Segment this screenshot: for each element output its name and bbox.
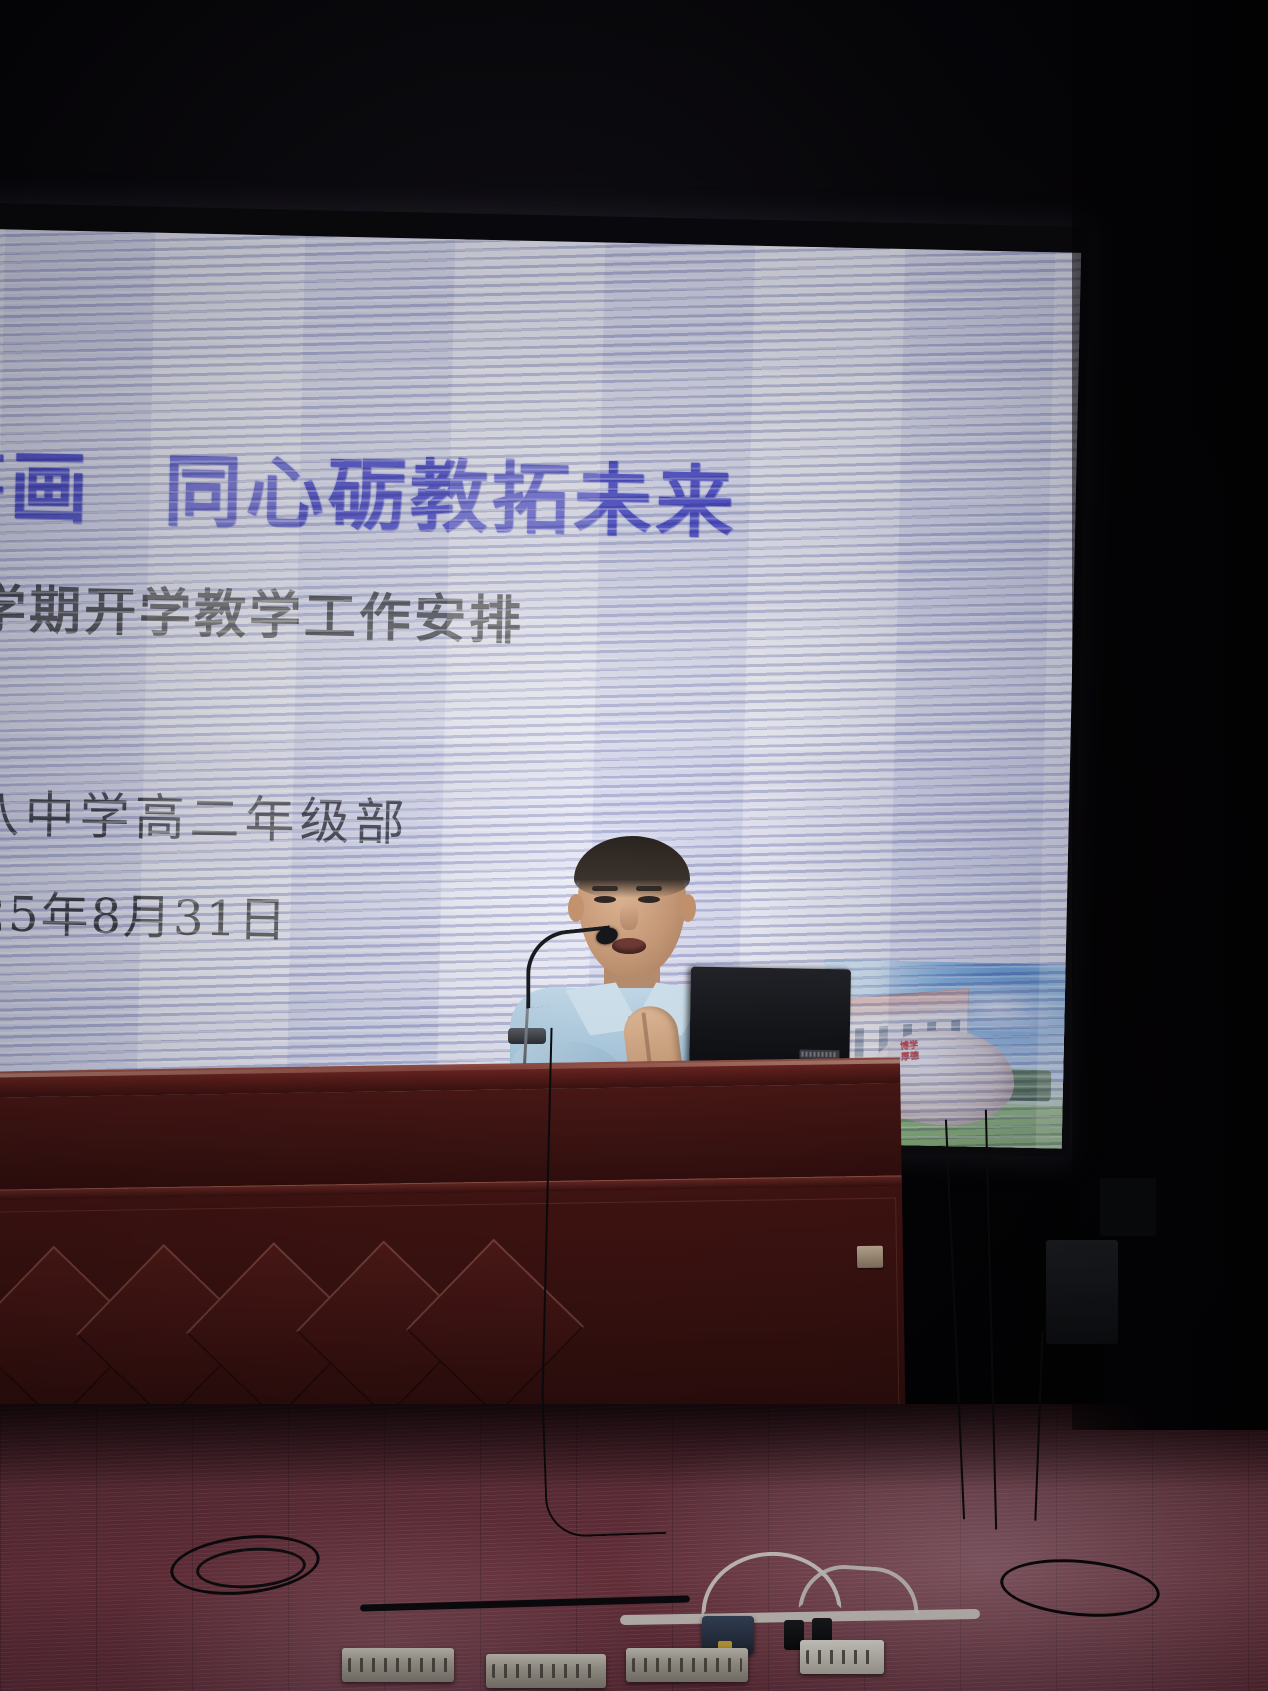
- loudspeaker-cabinet: [1046, 1240, 1118, 1344]
- power-strip: [486, 1654, 606, 1688]
- presenter-eyebrow-right: [636, 886, 662, 891]
- presenter-mouth: [612, 938, 646, 954]
- cable-run-right-3: [996, 1329, 1043, 1520]
- podium-latch-hardware[interactable]: [857, 1246, 883, 1268]
- presenter-nose: [620, 904, 638, 930]
- presenter-eye-left: [594, 896, 616, 903]
- podium-diamond-motif-row: [0, 1231, 905, 1425]
- stage-monitor: [1100, 1178, 1156, 1236]
- presenter-ear-right: [680, 894, 696, 922]
- microphone-cable-floor-run: [542, 1394, 667, 1538]
- power-strip: [342, 1648, 454, 1682]
- power-strip: [626, 1648, 748, 1682]
- podium-upper-band: [0, 1083, 902, 1190]
- power-strip: [800, 1640, 884, 1674]
- presenter-eye-right: [638, 896, 660, 903]
- presenter-ear-left: [568, 894, 584, 922]
- stage-scene: 筹画同心砺教拓未来 上学期开学教学工作安排 六八中学高二年级部 2025年8月3…: [0, 0, 1268, 1691]
- presenter-eyebrow-left: [592, 886, 618, 891]
